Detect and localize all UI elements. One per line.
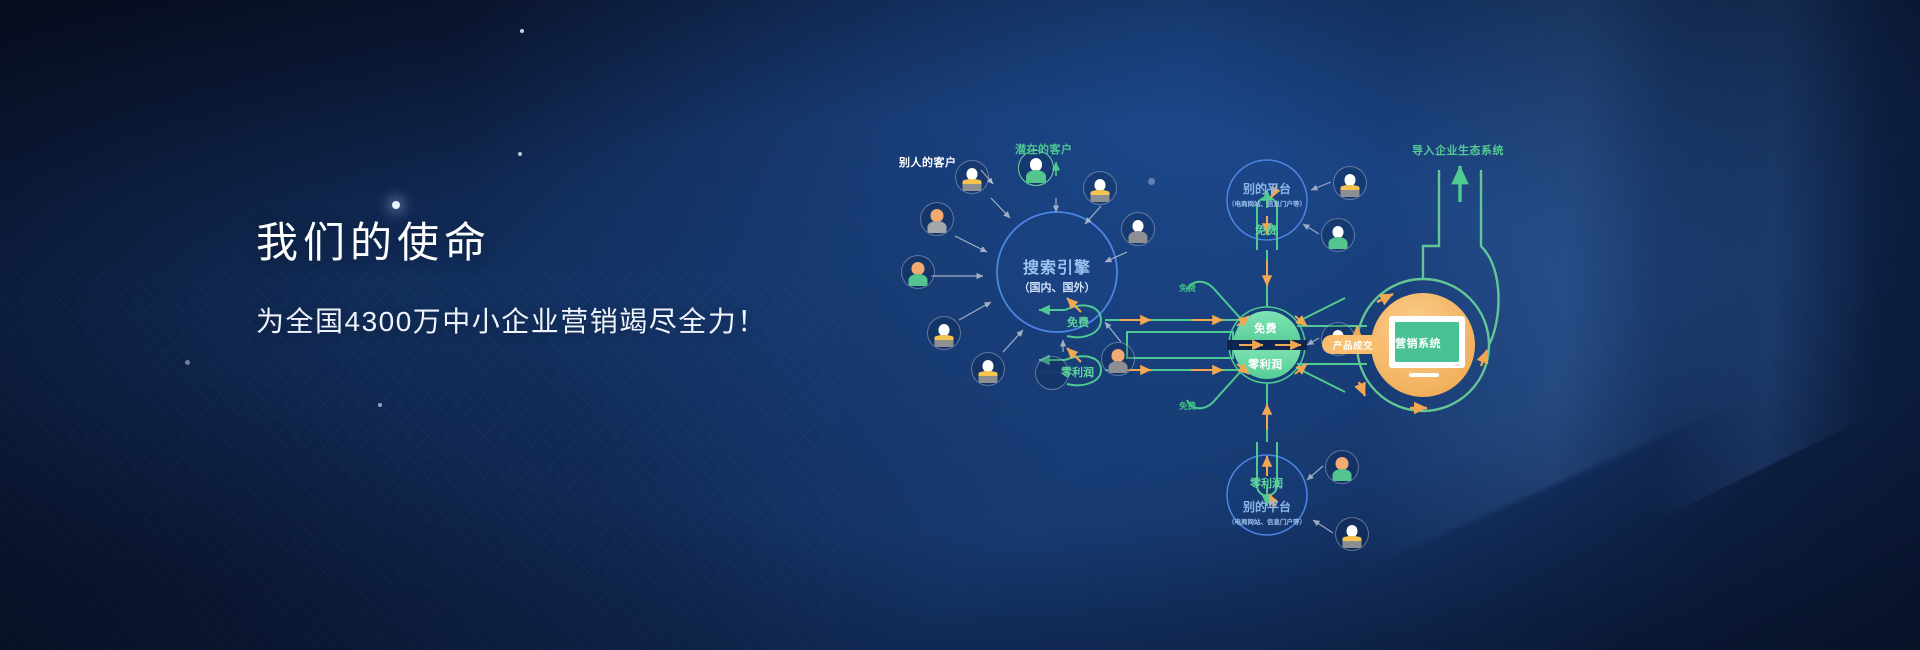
- mission-copy: 我们的使命 为全国4300万中小企业营销竭尽全力！: [256, 222, 767, 340]
- avatar-potential-customer: [1018, 150, 1054, 186]
- avatar: [971, 352, 1005, 386]
- deal-pill-label: 产品成交: [1333, 338, 1373, 352]
- page-subtitle: 为全国4300万中小企业营销竭尽全力！: [256, 300, 767, 340]
- decorative-dot: [378, 403, 382, 407]
- avatar: [955, 160, 989, 194]
- platform-top-label: 别的平台 （电商网站、信息门户等）: [1212, 180, 1322, 208]
- platform-bottom-title: 别的平台: [1212, 498, 1322, 515]
- avatar: [1121, 212, 1155, 246]
- platform-bottom-label: 别的平台 （电商网站、信息门户等）: [1212, 498, 1322, 526]
- avatar: [1335, 517, 1369, 551]
- avatar: [920, 202, 954, 236]
- avatar: [1333, 166, 1367, 200]
- deal-pill: 产品成交: [1322, 335, 1384, 354]
- avatar: [1101, 342, 1135, 376]
- avatar: [927, 316, 961, 350]
- decorative-dot: [185, 360, 190, 365]
- marketing-ecosystem-diagram: ······: [915, 150, 1475, 570]
- avatar: [1321, 218, 1355, 252]
- avatar: [901, 255, 935, 289]
- platform-top-subtitle: （电商网站、信息门户等）: [1212, 198, 1322, 208]
- avatar: [1325, 450, 1359, 484]
- platform-top-title: 别的平台: [1212, 180, 1322, 197]
- decorative-dot-glowing: [392, 201, 400, 209]
- search-engine-label: 搜索引擎 （国内、国外）: [997, 254, 1117, 295]
- decorative-dot: [518, 152, 522, 156]
- platform-bottom-subtitle: （电商网站、信息门户等）: [1212, 516, 1322, 526]
- hero-banner: 我们的使命 为全国4300万中小企业营销竭尽全力！: [0, 0, 1920, 650]
- page-title: 我们的使命: [256, 222, 767, 264]
- search-engine-subtitle: （国内、国外）: [997, 279, 1117, 295]
- search-engine-title: 搜索引擎: [997, 254, 1117, 278]
- avatar-placeholder: ······: [1035, 356, 1069, 390]
- decorative-dot: [520, 29, 524, 33]
- avatar: [1083, 171, 1117, 205]
- monitor-icon: [1389, 316, 1465, 377]
